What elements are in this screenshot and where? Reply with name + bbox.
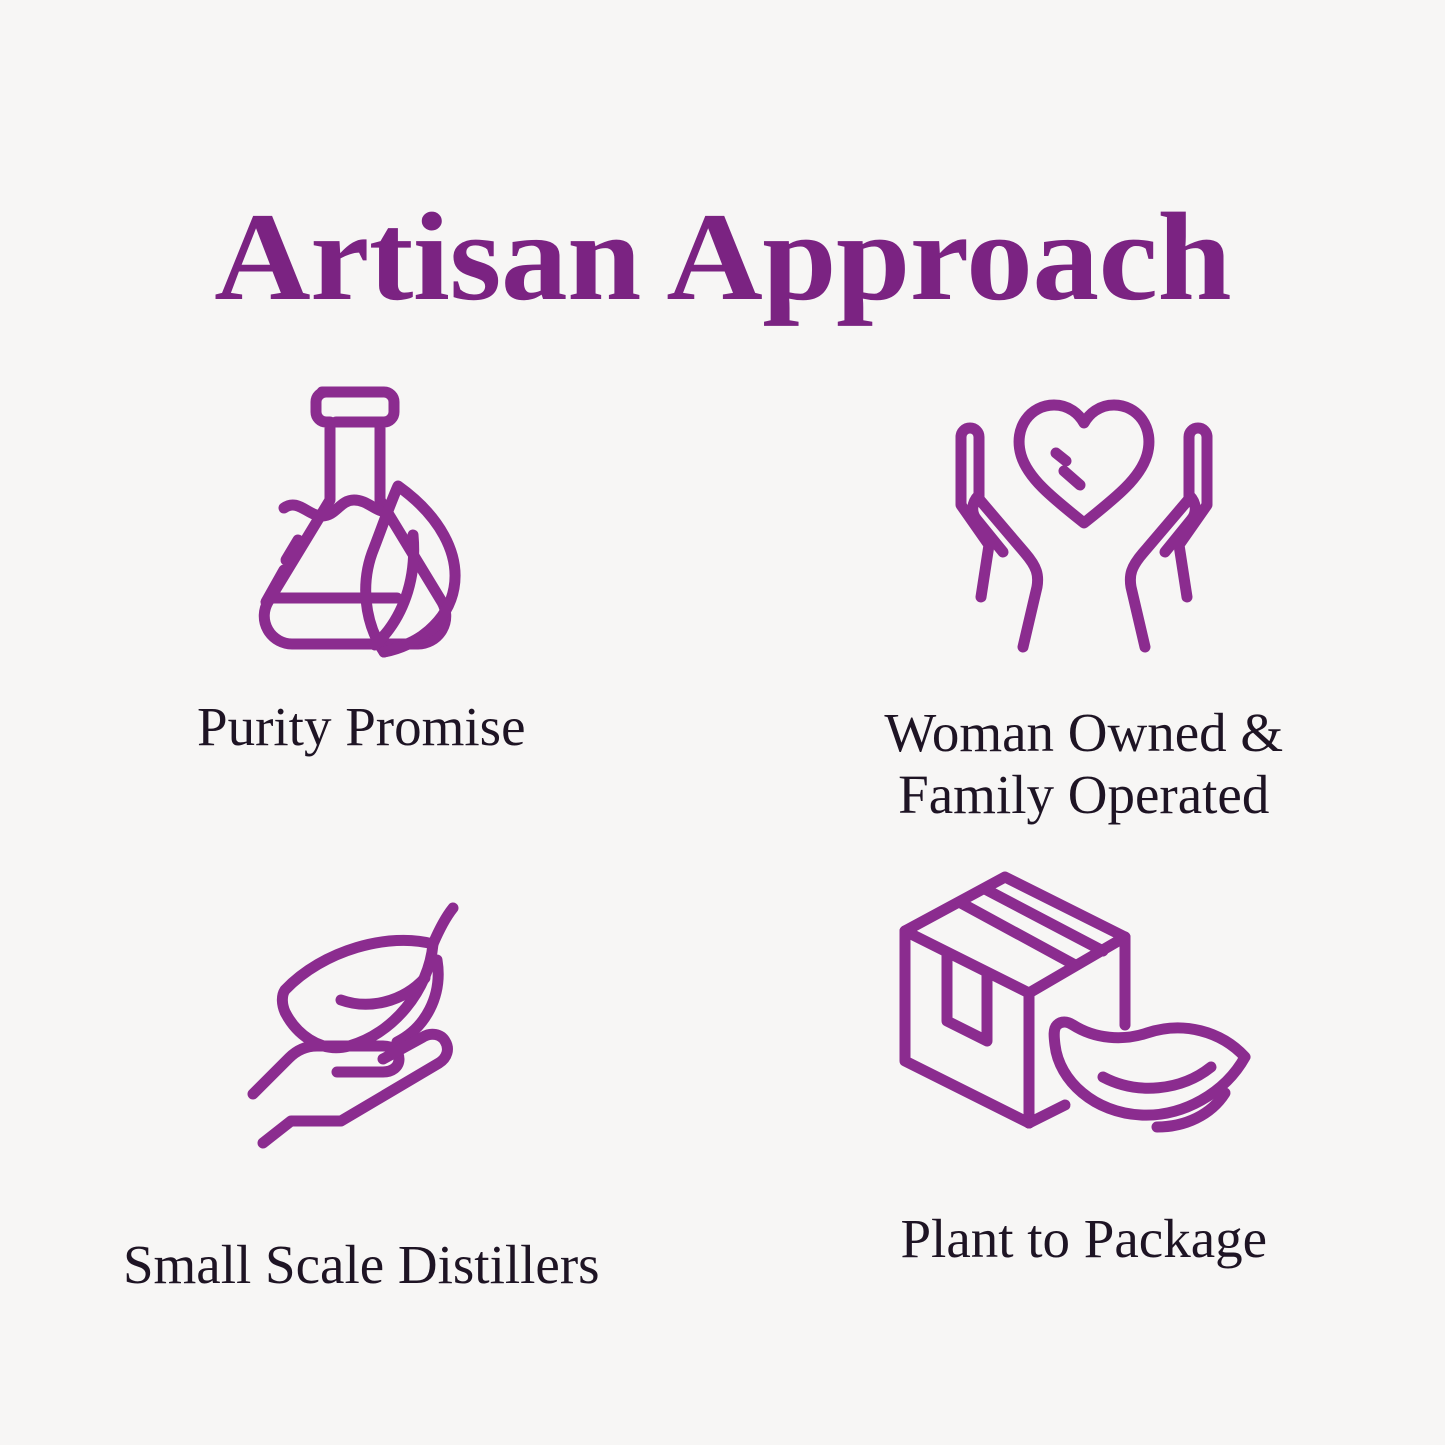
box-leaf-icon — [889, 850, 1279, 1150]
feature-item-plant-to-package: Plant to Package — [723, 840, 1445, 1340]
leaf-in-hand-icon — [241, 870, 481, 1170]
hands-heart-icon — [943, 376, 1225, 676]
feature-item-woman-owned: Woman Owned & Family Operated — [723, 340, 1445, 840]
feature-item-small-scale-distillers: Small Scale Distillers — [0, 840, 723, 1340]
artisan-approach-graphic: Artisan Approach — [0, 0, 1445, 1445]
page-title: Artisan Approach — [214, 192, 1231, 324]
flask-leaf-icon — [236, 362, 486, 662]
feature-label-purity-promise: Purity Promise — [197, 696, 526, 758]
feature-item-purity-promise: Purity Promise — [0, 340, 723, 840]
feature-label-plant-to-package: Plant to Package — [900, 1208, 1267, 1270]
feature-label-small-scale-distillers: Small Scale Distillers — [123, 1234, 600, 1296]
features-grid: Purity Promise — [0, 340, 1445, 1340]
feature-label-woman-owned: Woman Owned & Family Operated — [884, 702, 1283, 825]
